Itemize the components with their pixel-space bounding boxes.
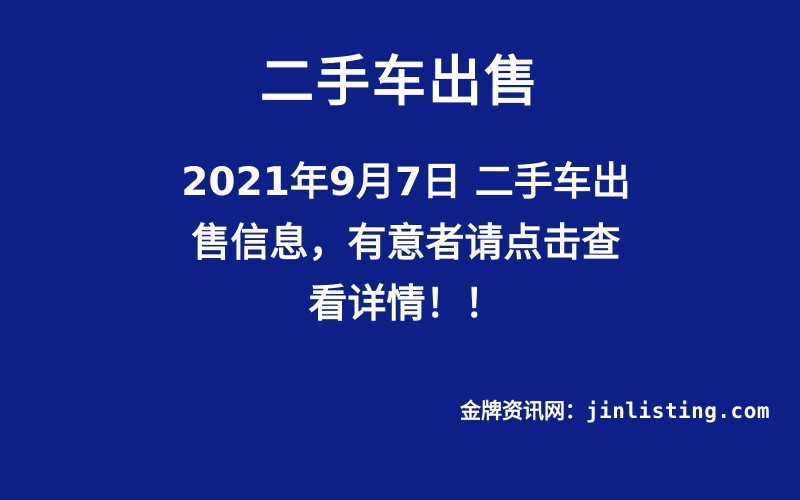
banner-footer-watermark: 金牌资讯网：jinlisting.com — [0, 396, 770, 427]
message-line-3: 看详情！！ — [100, 274, 712, 335]
banner-title: 二手车出售 — [0, 49, 800, 115]
used-car-banner: 二手车出售 2021年9月7日 二手车出 售信息，有意者请点击查 看详情！！ 金… — [0, 0, 800, 500]
site-name-label: 金牌资讯网： — [460, 399, 586, 423]
message-line-2: 售信息，有意者请点击查 — [100, 213, 712, 274]
site-url-label: jinlisting.com — [586, 399, 770, 423]
message-line-1: 2021年9月7日 二手车出 — [100, 152, 712, 213]
banner-message: 2021年9月7日 二手车出 售信息，有意者请点击查 看详情！！ — [100, 152, 712, 335]
